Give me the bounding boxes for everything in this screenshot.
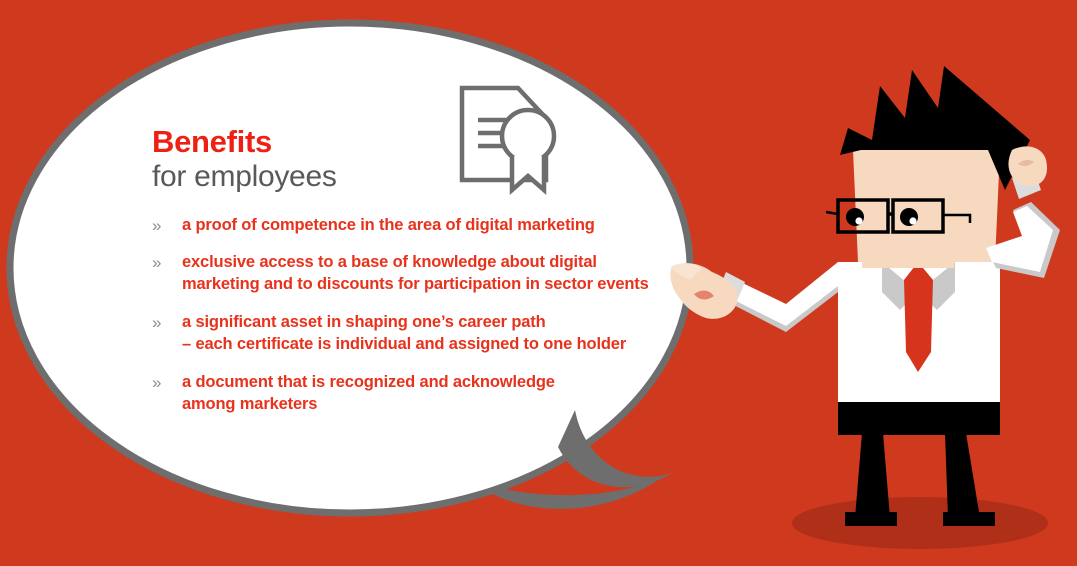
list-item-line: – each certificate is individual and ass… [182, 334, 672, 356]
list-item-line: among marketers [182, 394, 672, 416]
bubble-content: Benefits for employees » a proof of comp… [152, 126, 672, 416]
list-item: » a significant asset in shaping one’s c… [152, 312, 672, 356]
list-item: » a proof of competence in the area of d… [152, 215, 672, 237]
list-item-line: a proof of competence in the area of dig… [182, 215, 672, 237]
page-title-primary: Benefits [152, 126, 672, 157]
page-title-secondary: for employees [152, 161, 672, 193]
chevron-double-right-icon: » [152, 215, 161, 238]
list-item-line: a document that is recognized and acknow… [182, 372, 672, 394]
benefits-list: » a proof of competence in the area of d… [152, 215, 672, 417]
list-item: » a document that is recognized and ackn… [152, 372, 672, 416]
illustration-canvas: Benefits for employees » a proof of comp… [0, 0, 1077, 566]
chevron-double-right-icon: » [152, 372, 161, 395]
list-item-line: exclusive access to a base of knowledge … [182, 252, 672, 274]
list-item-line: a significant asset in shaping one’s car… [182, 312, 672, 334]
list-item: » exclusive access to a base of knowledg… [152, 252, 672, 296]
chevron-double-right-icon: » [152, 252, 161, 275]
chevron-double-right-icon: » [152, 312, 161, 335]
list-item-line: marketing and to discounts for participa… [182, 274, 672, 296]
